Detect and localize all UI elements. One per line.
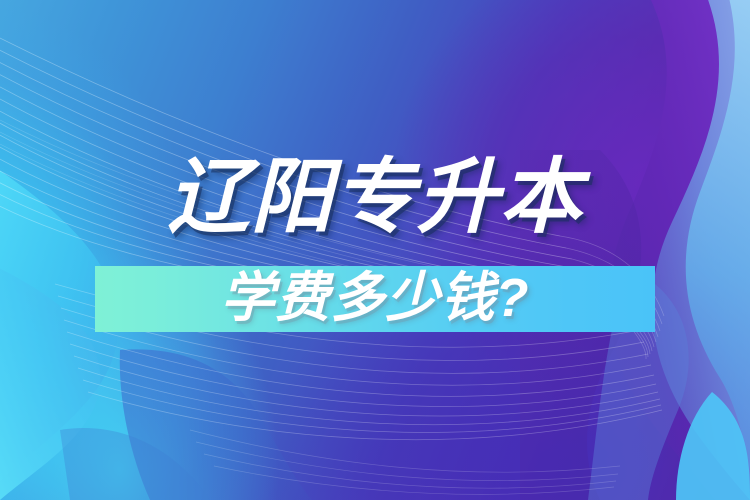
line-pattern-overlay [0,0,750,500]
subtitle-text: 学费多少钱? [221,268,530,328]
headline-container: 辽阳专升本 [0,152,750,244]
subtitle-bar: 学费多少钱? [95,266,655,332]
promo-banner: 辽阳专升本 学费多少钱? [0,0,750,500]
page-title: 辽阳专升本 [168,152,583,244]
